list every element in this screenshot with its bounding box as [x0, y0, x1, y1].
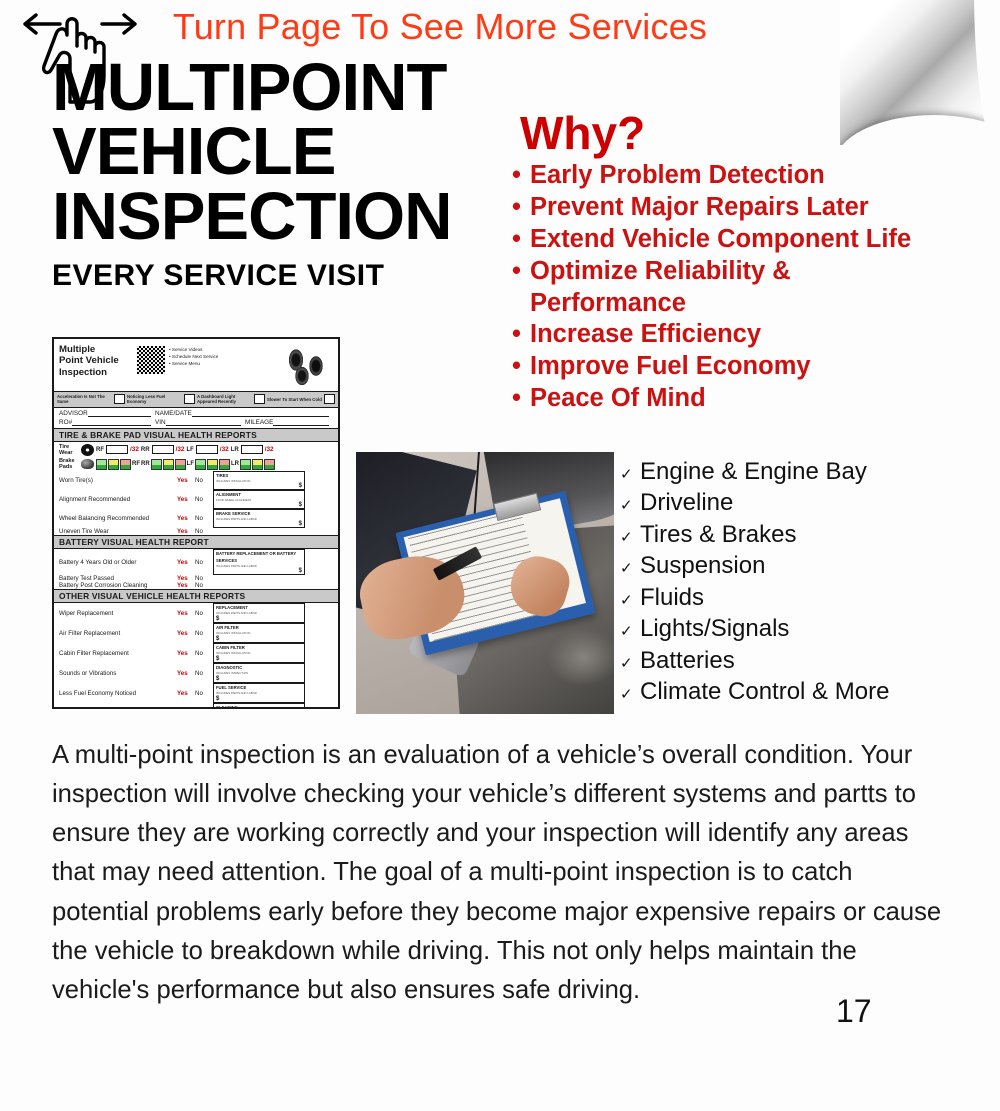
- service-price-box[interactable]: ALIGNMENTFOUR WHEEL ALIGNMENT$: [213, 490, 305, 509]
- brake-position-label: LF: [187, 461, 194, 467]
- bullet-icon: •: [512, 383, 530, 415]
- checklist-item-label: Climate Control & More: [640, 676, 889, 707]
- page-curl-corner[interactable]: [840, 0, 1000, 145]
- brake-pad-gauge[interactable]: [207, 459, 218, 470]
- inspection-check-row: Less Fuel Economy NoticedYesNoFUEL SERVI…: [54, 683, 338, 703]
- service-price-box[interactable]: AIR FILTERINCLUDES INSTALLATION$: [213, 623, 305, 643]
- field-name-date[interactable]: NAME/DATE: [155, 409, 329, 417]
- check-no-option[interactable]: No: [195, 528, 213, 535]
- form-title-line-3: Inspection: [59, 367, 137, 378]
- checklist-item: ✓Driveline: [620, 487, 990, 518]
- form-fields-row-2: RO# VIN MILEAGE: [54, 417, 338, 426]
- brake-pad-gauge[interactable]: [264, 459, 275, 470]
- field-vin[interactable]: VIN: [155, 418, 241, 426]
- form-title: Multiple Point Vehicle Inspection: [59, 344, 137, 388]
- why-list-item: •Prevent Major Repairs Later: [512, 192, 982, 224]
- inspection-check-row: Battery Post Corrosion CleaningYesNo: [54, 582, 338, 589]
- form-header: Multiple Point Vehicle Inspection • Serv…: [54, 339, 338, 391]
- price-box-amount[interactable]: $: [216, 502, 302, 508]
- check-yes-option[interactable]: Yes: [177, 650, 195, 657]
- price-box-subtitle: INCLUDES PARTS AND LABOR: [216, 611, 302, 615]
- tire-section-header: TIRE & BRAKE PAD VISUAL HEALTH REPORTS: [54, 428, 338, 442]
- price-box-title: CLEANING: [216, 705, 238, 709]
- price-box-subtitle: INCLUDES INSPECTION: [216, 671, 302, 675]
- form-title-line-2: Point Vehicle: [59, 355, 137, 366]
- tire-depth-input[interactable]: [106, 445, 128, 454]
- inspection-form-graphic: Multiple Point Vehicle Inspection • Serv…: [52, 337, 340, 709]
- inspection-check-row: Sounds or VibrationsYesNoDIAGNOSTICINCLU…: [54, 663, 338, 683]
- price-box-title: ALIGNMENT: [216, 492, 241, 497]
- qr-code-icon[interactable]: [137, 346, 165, 374]
- qr-bullet-item: • Service Videos: [169, 347, 237, 354]
- check-no-option[interactable]: No: [195, 690, 213, 697]
- symptom-checkbox[interactable]: [254, 394, 265, 404]
- checklist-item-label: Engine & Engine Bay: [640, 456, 867, 487]
- gauge-fill: [220, 465, 229, 469]
- brake-pad-gauge[interactable]: [120, 459, 131, 470]
- field-name-date-label: NAME/DATE: [155, 410, 192, 417]
- check-no-option[interactable]: No: [195, 630, 213, 637]
- why-list-item: •Extend Vehicle Component Life: [512, 224, 982, 256]
- price-box-amount[interactable]: $: [216, 676, 219, 682]
- tire-depth-fraction: /32: [220, 446, 229, 453]
- price-box-subtitle: INCLUDES INSTALLATION: [216, 651, 302, 655]
- check-no-option[interactable]: No: [195, 582, 213, 589]
- inspection-check-row: Battery 4 Years Old or OlderYesNoBATTERY…: [54, 549, 338, 575]
- check-row-label: Less Fuel Economy Noticed: [59, 690, 177, 697]
- brake-position-label: RF: [132, 461, 140, 467]
- check-yes-option[interactable]: Yes: [177, 515, 195, 522]
- check-no-option[interactable]: No: [195, 575, 213, 582]
- inspection-check-row: Odors Noticed (Evaporator or HVAC)YesNoC…: [54, 703, 338, 709]
- field-mileage-label: MILEAGE: [245, 419, 273, 426]
- check-yes-option[interactable]: Yes: [177, 559, 195, 566]
- price-box-title: DIAGNOSTIC: [216, 665, 242, 670]
- checklist-item: ✓Tires & Brakes: [620, 519, 990, 550]
- gauge-fill: [121, 465, 130, 469]
- check-row-label: Alignment Recommended: [59, 496, 177, 503]
- inspection-check-row: Wiper ReplacementYesNoREPLACEMENTINCLUDE…: [54, 603, 338, 623]
- tire-check-rows: Worn Tire(s)YesNoTIRESINCLUDES INSTALLAT…: [54, 471, 338, 535]
- inspection-check-row: Worn Tire(s)YesNoTIRESINCLUDES INSTALLAT…: [54, 471, 338, 490]
- inspection-check-row: Alignment RecommendedYesNoALIGNMENTFOUR …: [54, 490, 338, 509]
- bullet-icon: •: [512, 351, 530, 383]
- checklist-item-label: Tires & Brakes: [640, 519, 796, 550]
- headline-line-2: VEHICLE: [52, 120, 522, 184]
- symptom-label: Slower To Start When Cold: [267, 397, 322, 402]
- tire-position-label: RR: [141, 447, 150, 453]
- check-no-option[interactable]: No: [195, 477, 213, 484]
- symptom-checkbox-cell[interactable]: Slower To Start When Cold: [267, 394, 335, 405]
- why-list: •Early Problem Detection•Prevent Major R…: [512, 160, 982, 415]
- tire-position-label: LR: [231, 447, 239, 453]
- tire-position-label: LF: [186, 447, 193, 453]
- check-icon: ✓: [620, 465, 640, 485]
- price-box-subtitle: INCLUDES PARTS AND LABOR: [216, 691, 302, 695]
- field-advisor-label: ADVISOR: [59, 410, 88, 417]
- why-list-item: •Early Problem Detection: [512, 160, 982, 192]
- why-list-item-label: Performance: [530, 288, 686, 320]
- checklist-item: ✓Batteries: [620, 645, 990, 676]
- bullet-icon: •: [512, 224, 530, 256]
- gauge-fill: [152, 465, 161, 469]
- gauge-fill: [97, 465, 106, 469]
- check-yes-option[interactable]: Yes: [177, 575, 195, 582]
- check-row-label: Battery Post Corrosion Cleaning: [59, 582, 177, 589]
- bullet-icon: •: [512, 160, 530, 192]
- why-list-item: •Optimize Reliability &: [512, 256, 982, 288]
- check-yes-option[interactable]: Yes: [177, 496, 195, 503]
- service-price-box[interactable]: BRAKE SERVICEINCLUDES PARTS AND LABOR$: [213, 509, 305, 528]
- brake-pad-gauge[interactable]: [240, 459, 251, 470]
- symptom-checkbox[interactable]: [114, 394, 125, 404]
- field-vin-label: VIN: [155, 419, 166, 426]
- checklist-item-label: Suspension: [640, 550, 765, 581]
- price-box-amount[interactable]: $: [216, 696, 219, 702]
- check-yes-option[interactable]: Yes: [177, 528, 195, 535]
- check-icon: ✓: [620, 622, 640, 642]
- inspection-check-row: Air Filter ReplacementYesNoAIR FILTERINC…: [54, 623, 338, 643]
- tire-icon: [81, 444, 94, 456]
- symptom-label: A Dashboard Light Appeared Recently: [197, 394, 252, 405]
- check-yes-option[interactable]: Yes: [177, 582, 195, 589]
- price-box-title: BRAKE SERVICE: [216, 511, 250, 516]
- bullet-icon: •: [512, 192, 530, 224]
- tire-wear-cells: RF/32RR/32LF/32LR/32: [96, 445, 274, 454]
- checklist-item: ✓Climate Control & More: [620, 676, 990, 707]
- inspection-checklist: ✓Engine & Engine Bay✓Driveline✓Tires & B…: [620, 456, 990, 708]
- price-box-amount[interactable]: $: [216, 636, 219, 642]
- check-icon: ✓: [620, 496, 640, 516]
- check-icon: ✓: [620, 685, 640, 705]
- why-list-item-label: Prevent Major Repairs Later: [530, 192, 869, 224]
- field-ro-number-label: RO#: [59, 419, 72, 426]
- form-title-line-1: Multiple: [59, 344, 137, 355]
- price-box-title: REPLACEMENT: [216, 605, 248, 610]
- tire-wear-label: Tire Wear: [59, 444, 79, 456]
- tire-depth-fraction: /32: [176, 446, 185, 453]
- service-price-box[interactable]: CABIN FILTERINCLUDES INSTALLATION$: [213, 643, 305, 663]
- tire-depth-input[interactable]: [196, 445, 218, 454]
- service-price-box[interactable]: DIAGNOSTICINCLUDES INSPECTION$: [213, 663, 305, 683]
- inspection-check-row: Uneven Tire WearYesNo: [54, 528, 338, 535]
- why-list-item: •Increase Efficiency: [512, 319, 982, 351]
- check-row-label: Wiper Replacement: [59, 610, 177, 617]
- price-box-title: TIRES: [216, 473, 228, 478]
- price-box-title: AIR FILTER: [216, 625, 239, 630]
- brake-pad-cells: RFRRLFLR: [96, 459, 275, 470]
- brake-pad-gauge[interactable]: [195, 459, 206, 470]
- why-list-item: •Performance: [512, 288, 982, 320]
- field-mileage[interactable]: MILEAGE: [245, 418, 329, 426]
- brake-pad-gauge[interactable]: [151, 459, 162, 470]
- price-box-amount[interactable]: $: [216, 521, 302, 527]
- symptom-checkbox-cell[interactable]: Acceleration Is Not The Same: [57, 394, 125, 405]
- why-list-item-label: Peace Of Mind: [530, 383, 706, 415]
- symptom-checkbox-cell[interactable]: A Dashboard Light Appeared Recently: [197, 394, 265, 405]
- brake-pad-gauge[interactable]: [219, 459, 230, 470]
- inspection-check-row: Wheel Balancing RecommendedYesNoBRAKE SE…: [54, 509, 338, 528]
- brake-pad-gauge[interactable]: [96, 459, 107, 470]
- check-row-label: Worn Tire(s): [59, 477, 177, 484]
- tire-stack-photo: [272, 344, 334, 388]
- page-number: 17: [836, 993, 872, 1030]
- brake-pad-gauge[interactable]: [175, 459, 186, 470]
- check-yes-option[interactable]: Yes: [177, 477, 195, 484]
- check-icon: ✓: [620, 591, 640, 611]
- gauge-fill: [164, 465, 173, 469]
- checklist-item: ✓Fluids: [620, 582, 990, 613]
- bullet-icon: •: [512, 256, 530, 288]
- check-icon: ✓: [620, 528, 640, 548]
- bullet-icon: •: [512, 319, 530, 351]
- inspection-check-row: Cabin Filter ReplacementYesNoCABIN FILTE…: [54, 643, 338, 663]
- brake-position-label: RR: [141, 461, 150, 467]
- symptom-checkbox[interactable]: [324, 394, 335, 404]
- tire-depth-input[interactable]: [152, 445, 174, 454]
- field-ro-number[interactable]: RO#: [59, 418, 151, 426]
- why-list-item: •Peace Of Mind: [512, 383, 982, 415]
- symptom-checkbox[interactable]: [184, 394, 195, 404]
- check-no-option[interactable]: No: [195, 610, 213, 617]
- qr-bullet-item: • Schedule Next Service: [169, 354, 237, 361]
- why-list-item-label: Improve Fuel Economy: [530, 351, 811, 383]
- service-price-box[interactable]: TIRESINCLUDES INSTALLATION$: [213, 471, 305, 490]
- why-list-item-label: Extend Vehicle Component Life: [530, 224, 911, 256]
- check-yes-option[interactable]: Yes: [177, 670, 195, 677]
- other-section-header: OTHER VISUAL VEHICLE HEALTH REPORTS: [54, 589, 338, 603]
- check-no-option[interactable]: No: [195, 515, 213, 522]
- brake-pads-row: Brake Pads RFRRLFLR: [54, 456, 338, 470]
- form-fields-row-1: ADVISOR NAME/DATE: [54, 408, 338, 417]
- price-box-amount[interactable]: $: [216, 483, 302, 489]
- gauge-fill: [208, 465, 217, 469]
- check-yes-option[interactable]: Yes: [177, 630, 195, 637]
- check-yes-option[interactable]: Yes: [177, 610, 195, 617]
- check-yes-option[interactable]: Yes: [177, 690, 195, 697]
- qr-bullet-item: • Service Menu: [169, 361, 237, 368]
- checklist-item: ✓Suspension: [620, 550, 990, 581]
- service-price-box[interactable]: REPLACEMENTINCLUDES PARTS AND LABOR$: [213, 603, 305, 623]
- tire-depth-fraction: /32: [265, 446, 274, 453]
- tire-position-label: RF: [96, 447, 104, 453]
- checklist-item-label: Fluids: [640, 582, 704, 613]
- headline-line-3: INSPECTION: [52, 185, 522, 249]
- checklist-item-label: Lights/Signals: [640, 613, 789, 644]
- check-no-option[interactable]: No: [195, 670, 213, 677]
- check-row-label: Uneven Tire Wear: [59, 528, 177, 535]
- gauge-fill: [109, 465, 118, 469]
- other-check-rows: Wiper ReplacementYesNoREPLACEMENTINCLUDE…: [54, 603, 338, 709]
- price-box-title: CABIN FILTER: [216, 645, 245, 650]
- service-price-box[interactable]: FUEL SERVICEINCLUDES PARTS AND LABOR$: [213, 683, 305, 703]
- price-box-amount[interactable]: $: [216, 616, 219, 622]
- battery-section-header: BATTERY VISUAL HEALTH REPORT: [54, 535, 338, 549]
- brake-position-label: LR: [231, 461, 239, 467]
- body-paragraph: A multi-point inspection is an evaluatio…: [52, 736, 944, 1010]
- headline-subtitle: EVERY SERVICE VISIT: [52, 259, 522, 293]
- why-section: Why? •Early Problem Detection•Prevent Ma…: [512, 110, 982, 415]
- check-no-option[interactable]: No: [195, 650, 213, 657]
- why-list-item: •Improve Fuel Economy: [512, 351, 982, 383]
- checklist-item-label: Batteries: [640, 645, 735, 676]
- tire-depth-fraction: /32: [130, 446, 139, 453]
- gauge-fill: [253, 465, 262, 469]
- battery-check-rows: Battery 4 Years Old or OlderYesNoBATTERY…: [54, 549, 338, 589]
- price-box-amount[interactable]: $: [216, 656, 219, 662]
- price-box-title: BATTERY REPLACEMENT OR BATTERY SERVICES: [216, 551, 296, 563]
- why-list-item-label: Increase Efficiency: [530, 319, 761, 351]
- check-icon: ✓: [620, 559, 640, 579]
- check-row-label: Battery 4 Years Old or Older: [59, 559, 177, 566]
- check-row-label: Wheel Balancing Recommended: [59, 515, 177, 522]
- price-box-subtitle: INCLUDES INSTALLATION: [216, 631, 302, 635]
- gauge-fill: [265, 465, 274, 469]
- why-list-item-label: Optimize Reliability &: [530, 256, 791, 288]
- inspection-check-row: Battery Test PassedYesNo: [54, 575, 338, 582]
- symptom-label: Noticing Less Fuel Economy: [127, 394, 182, 405]
- checklist-item: ✓Lights/Signals: [620, 613, 990, 644]
- why-list-item-label: Early Problem Detection: [530, 160, 825, 192]
- symptom-label: Acceleration Is Not The Same: [57, 394, 112, 405]
- check-row-label: Cabin Filter Replacement: [59, 650, 177, 657]
- check-row-label: Battery Test Passed: [59, 575, 177, 582]
- checklist-item-label: Driveline: [640, 487, 733, 518]
- check-no-option[interactable]: No: [195, 559, 213, 566]
- service-price-box[interactable]: BATTERY REPLACEMENT OR BATTERY SERVICESI…: [213, 549, 305, 575]
- gauge-fill: [241, 465, 250, 469]
- symptom-checkbox-cell[interactable]: Noticing Less Fuel Economy: [127, 394, 195, 405]
- symptom-checkbox-row: Acceleration Is Not The SameNoticing Les…: [54, 391, 338, 408]
- pointing-hand-icon[interactable]: [18, 4, 142, 114]
- checklist-item: ✓Engine & Engine Bay: [620, 456, 990, 487]
- check-icon: ✓: [620, 654, 640, 674]
- price-box-amount[interactable]: $: [216, 568, 302, 574]
- brake-pad-icon: [81, 459, 94, 469]
- check-row-label: Air Filter Replacement: [59, 630, 177, 637]
- brake-pad-gauge[interactable]: [252, 459, 263, 470]
- technician-inspection-photo: [356, 452, 614, 714]
- field-advisor[interactable]: ADVISOR: [59, 409, 151, 417]
- price-box-title: FUEL SERVICE: [216, 685, 246, 690]
- gauge-fill: [196, 465, 205, 469]
- brake-pads-label: Brake Pads: [59, 458, 79, 470]
- check-no-option[interactable]: No: [195, 496, 213, 503]
- gauge-fill: [176, 465, 185, 469]
- brake-pad-gauge[interactable]: [108, 459, 119, 470]
- qr-bullet-list: • Service Videos• Schedule Next Service•…: [169, 347, 237, 388]
- service-price-box[interactable]: CLEANINGINCLUDES SERVICE$: [213, 703, 305, 709]
- check-row-label: Sounds or Vibrations: [59, 670, 177, 677]
- brake-pad-gauge[interactable]: [163, 459, 174, 470]
- tire-wear-row: Tire Wear RF/32RR/32LF/32LR/32: [54, 442, 338, 456]
- tire-depth-input[interactable]: [241, 445, 263, 454]
